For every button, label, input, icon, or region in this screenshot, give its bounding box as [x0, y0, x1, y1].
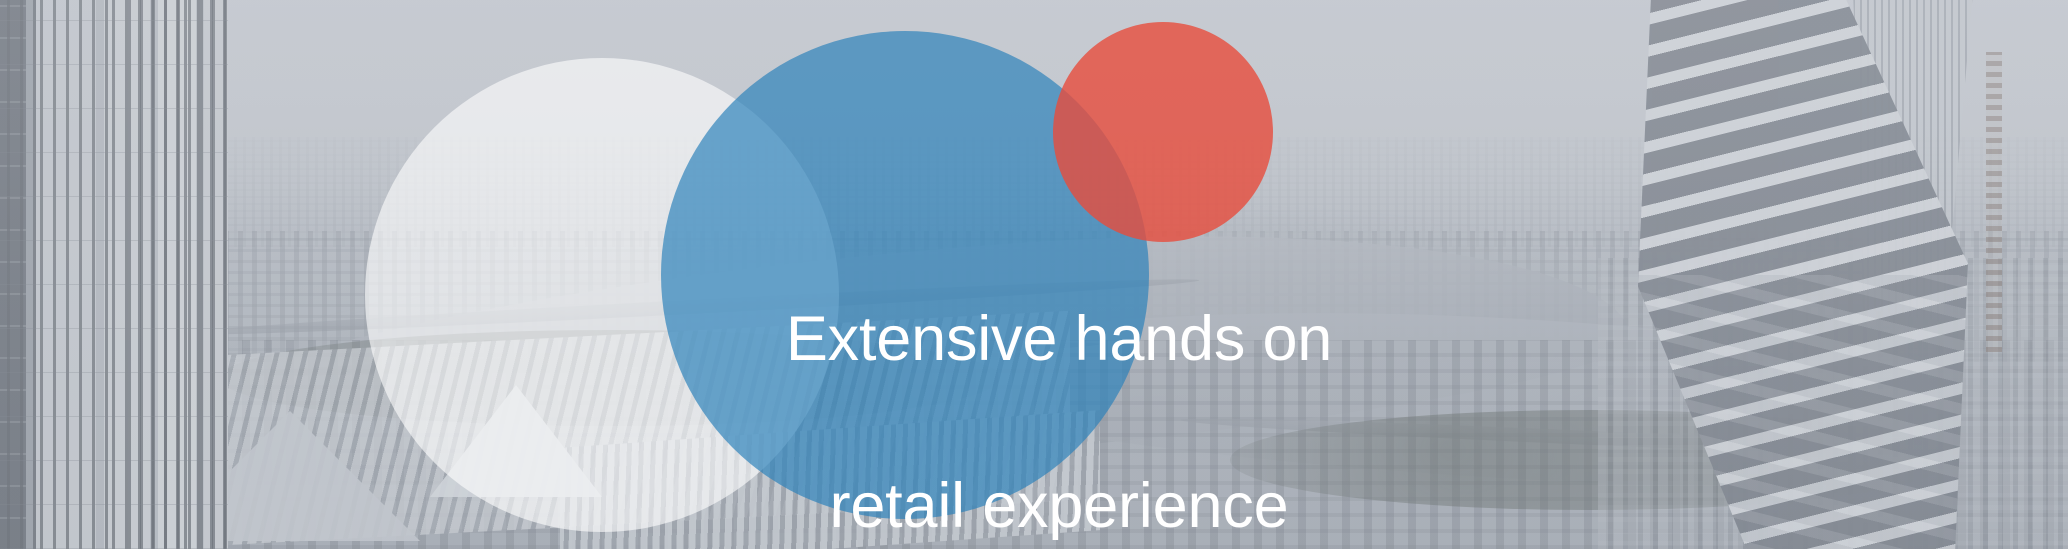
- headline-line-1: Extensive hands on: [50, 298, 2068, 382]
- hero-banner: Extensive hands on retail experience: [0, 0, 2068, 549]
- headline-line-2: retail experience: [50, 465, 2068, 549]
- venn-circle-red: [1053, 22, 1273, 242]
- headline: Extensive hands on retail experience: [0, 214, 2068, 549]
